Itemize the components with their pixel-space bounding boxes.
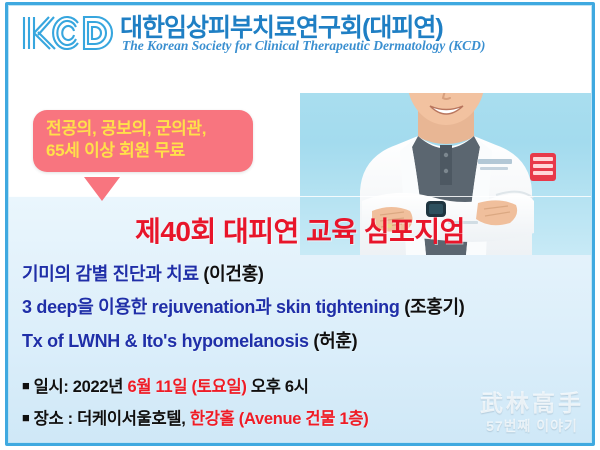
callout-tail [84,177,120,201]
datetime-label: 일시: 2022년 [34,378,128,396]
event-info-list: ■일시: 2022년 6월 11일 (토요일) 오후 6시 ■장소 : 더케이서… [22,372,582,435]
program-topic: 3 deep을 이용한 rejuvenation과 skin tightenin… [22,297,400,317]
callout-line-2: 65세 이상 회원 무료 [46,140,241,162]
venue-highlight: 한강홀 (Avenue 건물 1층) [190,410,369,428]
organization-subtitle: The Korean Society for Clinical Therapeu… [122,38,485,54]
callout-line-1: 전공의, 공보의, 군의관, [46,118,241,140]
venue-label: 장소 : 더케이서울호텔, [34,410,190,428]
program-list: 기미의 감별 진단과 치료 (이건홍) 3 deep을 이용한 rejuvena… [22,258,582,358]
program-speaker: (조홍기) [404,297,464,317]
program-item: 기미의 감별 진단과 치료 (이건홍) [22,258,582,291]
poster-root: 대한임상피부치료연구회(대피연) The Korean Society for … [0,0,600,450]
datetime-highlight: 6월 11일 (토요일) [127,378,246,396]
program-topic: 기미의 감별 진단과 치료 [22,264,199,284]
event-datetime-row: ■일시: 2022년 6월 11일 (토요일) 오후 6시 [22,372,582,404]
kcd-logo-icon [18,10,118,56]
program-topic: Tx of LWNH & Ito's hypomelanosis [22,331,309,351]
program-speaker: (이건홍) [203,264,263,284]
free-admission-callout: 전공의, 공보의, 군의관, 65세 이상 회원 무료 [33,110,253,172]
page-title: 제40회 대피연 교육 심포지엄 [0,210,600,250]
program-item: Tx of LWNH & Ito's hypomelanosis (허훈) [22,325,582,358]
bullet-icon: ■ [22,378,30,393]
program-item: 3 deep을 이용한 rejuvenation과 skin tightenin… [22,291,582,324]
event-venue-row: ■장소 : 더케이서울호텔, 한강홀 (Avenue 건물 1층) [22,404,582,436]
program-speaker: (허훈) [313,331,357,351]
datetime-tail: 오후 6시 [247,378,309,396]
bullet-icon: ■ [22,410,30,425]
